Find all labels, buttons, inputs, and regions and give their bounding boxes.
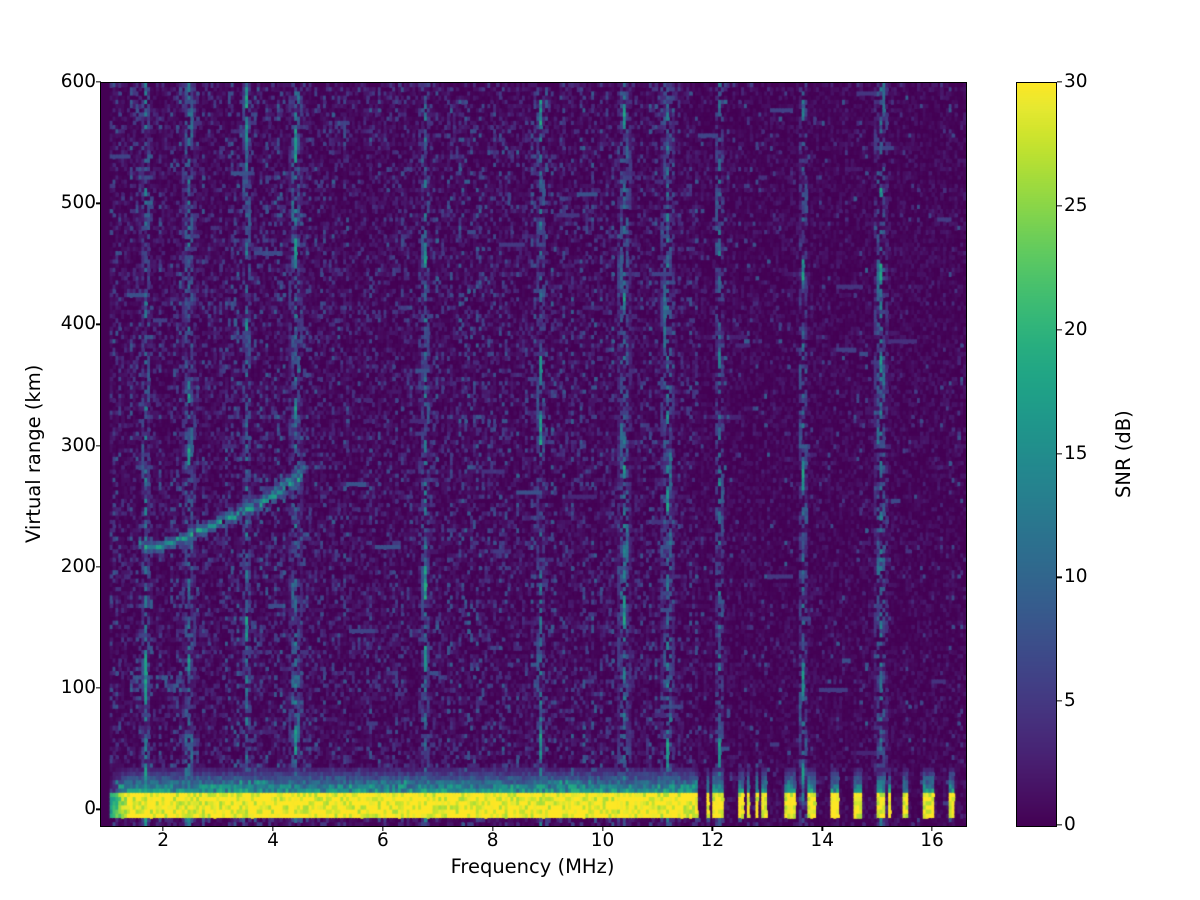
x-tick-mark [492,826,493,831]
x-tick-mark [163,826,164,831]
ionogram-figure: IRF Uppsala SDR Ionosonde UP158 2025-11-… [0,0,1200,900]
x-tick-label: 12 [701,832,725,851]
y-tick-label: 600 [61,73,96,92]
x-tick-label: 10 [591,832,615,851]
y-tick-label: 400 [61,315,96,334]
colorbar-tick-mark [1057,81,1062,82]
colorbar-tick-label: 25 [1064,197,1088,216]
ionogram-plot-area[interactable] [100,82,967,827]
y-tick-mark [96,566,101,567]
y-tick-label: 0 [84,800,96,819]
y-tick-mark [96,81,101,82]
y-tick-mark [96,203,101,204]
colorbar-label: SNR (dB) [1112,410,1135,498]
colorbar-tick-label: 30 [1064,73,1088,92]
x-tick-mark [382,826,383,831]
x-tick-mark [822,826,823,831]
y-tick-label: 200 [61,558,96,577]
y-tick-label: 100 [61,679,96,698]
y-tick-mark [96,809,101,810]
x-tick-mark [602,826,603,831]
colorbar-gradient [1017,83,1056,826]
y-tick-label: 300 [61,436,96,455]
colorbar-tick-mark [1057,453,1062,454]
colorbar-tick-mark [1057,205,1062,206]
x-tick-mark [712,826,713,831]
y-tick-mark [96,324,101,325]
colorbar-tick-label: 0 [1064,816,1076,835]
x-tick-mark [931,826,932,831]
x-tick-label: 2 [157,832,169,851]
colorbar-tick-label: 15 [1064,444,1088,463]
colorbar-tick-mark [1057,329,1062,330]
y-tick-mark [96,445,101,446]
colorbar-tick-label: 5 [1064,692,1076,711]
x-tick-label: 8 [487,832,499,851]
colorbar-tick-mark [1057,701,1062,702]
x-tick-mark [272,826,273,831]
x-tick-label: 4 [267,832,279,851]
x-tick-label: 16 [920,832,944,851]
y-tick-mark [96,687,101,688]
colorbar-tick-label: 20 [1064,320,1088,339]
x-tick-label: 6 [377,832,389,851]
y-axis-label: Virtual range (km) [22,364,45,542]
ionogram-heatmap-canvas [101,83,966,826]
colorbar-tick-mark [1057,577,1062,578]
y-tick-label: 500 [61,194,96,213]
snr-colorbar[interactable] [1016,82,1057,827]
colorbar-tick-mark [1057,824,1062,825]
colorbar-tick-label: 10 [1064,568,1088,587]
x-tick-label: 14 [810,832,834,851]
x-axis-label: Frequency (MHz) [100,855,965,878]
